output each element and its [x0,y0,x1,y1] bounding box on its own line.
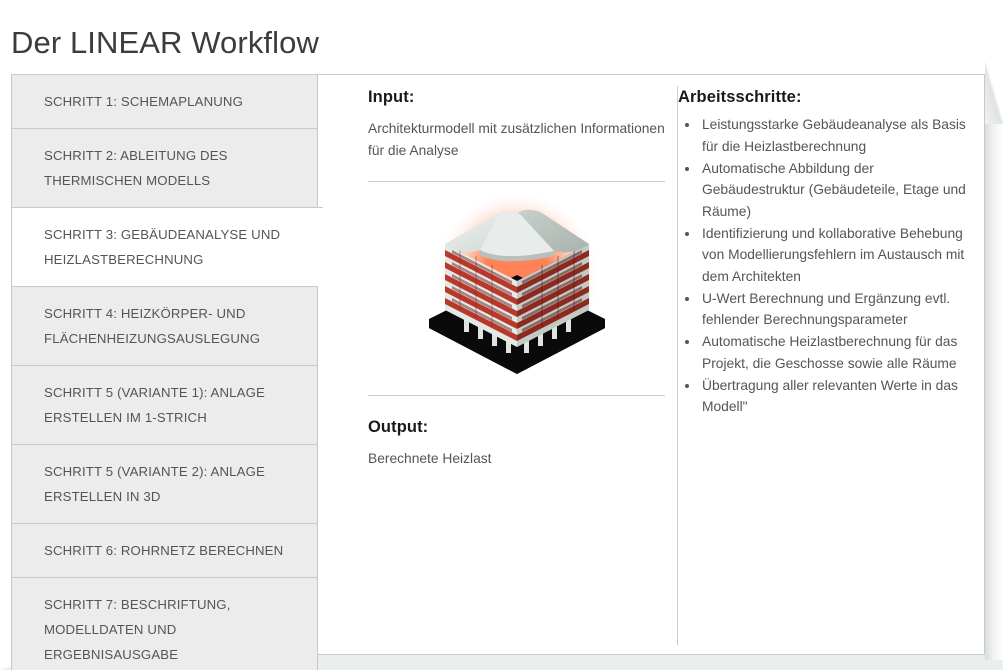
work-step-item: Automatische Abbildung der Gebäudestrukt… [700,158,966,223]
output-heading: Output: [368,418,665,437]
tab-schritt-4[interactable]: SCHRITT 4: HEIZKÖRPER- UND FLÄCHENHEIZUN… [11,286,318,365]
tab-schritt-3[interactable]: SCHRITT 3: GEBÄUDEANALYSE UND HEIZLASTBE… [11,207,323,286]
tab-schritt-2[interactable]: SCHRITT 2: ABLEITUNG DES THERMISCHEN MOD… [11,128,318,207]
work-steps-heading: Arbeitsschritte: [678,88,966,107]
tab-schritt-5-v2[interactable]: SCHRITT 5 (VARIANTE 2): ANLAGE ERSTELLEN… [11,444,318,523]
input-output-column: Input: Architekturmodell mit zusätzliche… [368,88,665,470]
workflow-widget: Input: Architekturmodell mit zusätzliche… [11,74,985,655]
page-root: Der LINEAR Workflow Input: Architekturmo… [0,0,1003,670]
input-figure-divider [368,181,665,182]
work-step-item: Identifizierung und kollaborative Behebu… [700,223,966,288]
output-description: Berechnete Heizlast [368,448,665,470]
figure-output-divider [368,395,665,396]
work-steps-column: Arbeitsschritte: Leistungsstarke Gebäude… [678,88,966,418]
input-heading: Input: [368,88,665,107]
page-title: Der LINEAR Workflow [11,23,319,63]
work-steps-list: Leistungsstarke Gebäudeanalyse als Basis… [678,114,966,418]
workflow-step-tabs: SCHRITT 1: SCHEMAPLANUNGSCHRITT 2: ABLEI… [11,74,318,670]
page-curl-right-decoration [985,120,1003,660]
work-step-item: Automatische Heizlastberechnung für das … [700,331,966,374]
work-step-item: Übertragung aller relevanten Werte in da… [700,375,966,418]
tab-schritt-5-v1[interactable]: SCHRITT 5 (VARIANTE 1): ANLAGE ERSTELLEN… [11,365,318,444]
isometric-building-illustration [368,188,665,376]
workflow-content-panel: Input: Architekturmodell mit zusätzliche… [317,74,985,655]
output-block: Output: Berechnete Heizlast [368,418,665,470]
tab-schritt-6[interactable]: SCHRITT 6: ROHRNETZ BERECHNEN [11,523,318,577]
input-description: Architekturmodell mit zusätzlichen Infor… [368,118,665,162]
work-step-item: U-Wert Berechnung und Ergänzung evtl. fe… [700,288,966,331]
work-step-item: Leistungsstarke Gebäudeanalyse als Basis… [700,114,966,157]
tab-schritt-7[interactable]: SCHRITT 7: BESCHRIFTUNG, MODELLDATEN UND… [11,577,318,670]
tab-schritt-1[interactable]: SCHRITT 1: SCHEMAPLANUNG [11,74,318,128]
